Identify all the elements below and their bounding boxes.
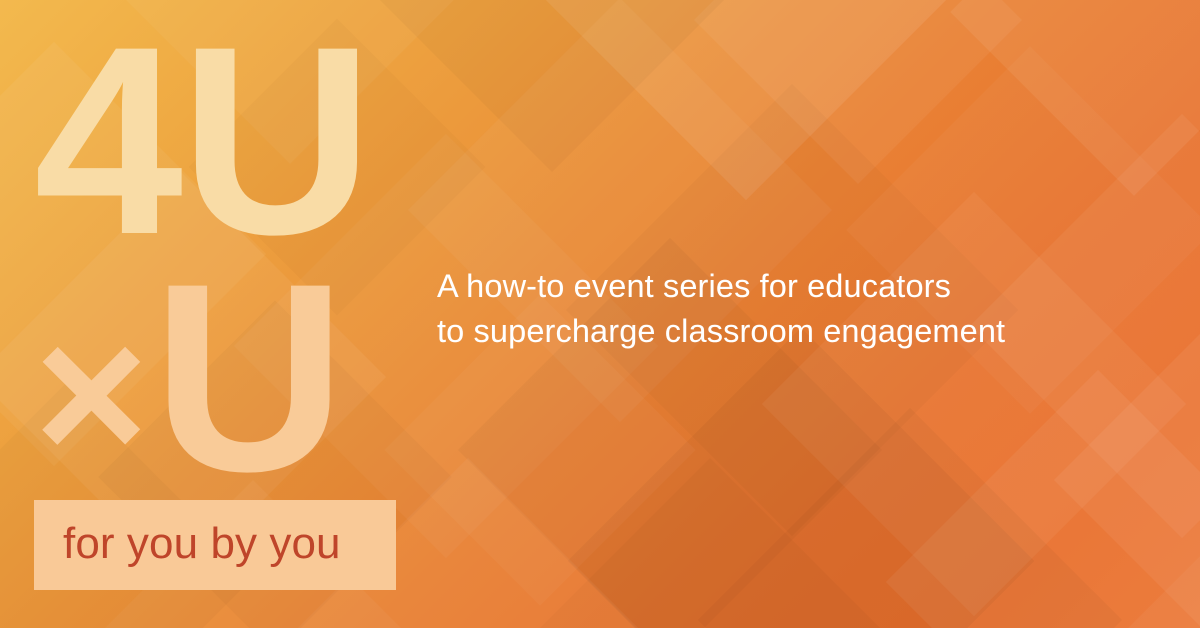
headline-text-block: A how-to event series for educators to s… xyxy=(437,264,1177,354)
headline-line-2: to supercharge classroom engagement xyxy=(437,309,1177,354)
promotional-banner: 4U ×U for you by you A how-to event seri… xyxy=(0,0,1200,628)
logo-tagline-label: for you by you xyxy=(63,519,341,569)
brand-logo-lockup: 4U ×U for you by you xyxy=(0,0,420,628)
headline-line-1: A how-to event series for educators xyxy=(437,264,1177,309)
multiplication-sign-icon: × xyxy=(34,284,152,503)
logo-tagline-box: for you by you xyxy=(34,500,396,590)
logo-letter-u: U xyxy=(152,227,342,527)
logo-line-times-u: ×U xyxy=(34,243,343,511)
